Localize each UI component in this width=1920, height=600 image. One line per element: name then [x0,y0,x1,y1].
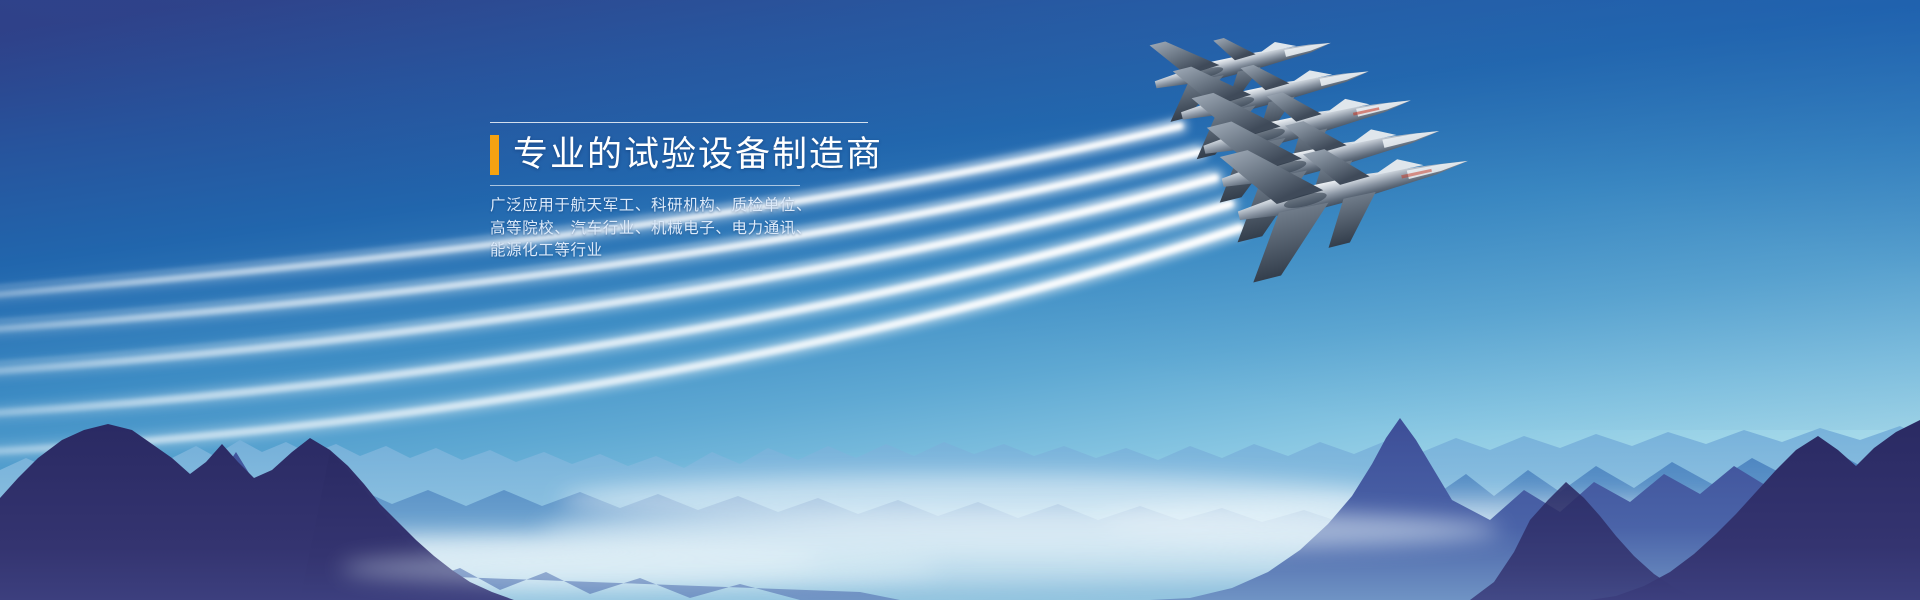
subtitle-line-1: 广泛应用于航天军工、科研机构、质检单位、 [490,195,920,218]
page-title: 专业的试验设备制造商 [513,135,883,175]
subtitle-line-3: 能源化工等行业 [490,240,920,263]
subtitle-line-2: 高等院校、汽车行业、机械电子、电力通讯、 [490,218,920,241]
hero-text-block: 专业的试验设备制造商 广泛应用于航天军工、科研机构、质检单位、 高等院校、汽车行… [490,122,920,263]
accent-bar-icon [490,135,499,175]
mountain-range [0,0,1920,600]
subtitle-block: 广泛应用于航天军工、科研机构、质检单位、 高等院校、汽车行业、机械电子、电力通讯… [490,195,920,263]
headline-row: 专业的试验设备制造商 [490,129,920,181]
headline-divider-bottom [490,185,800,186]
hero-banner: 专业的试验设备制造商 广泛应用于航天军工、科研机构、质检单位、 高等院校、汽车行… [0,0,1920,600]
headline-divider-top [490,122,868,123]
